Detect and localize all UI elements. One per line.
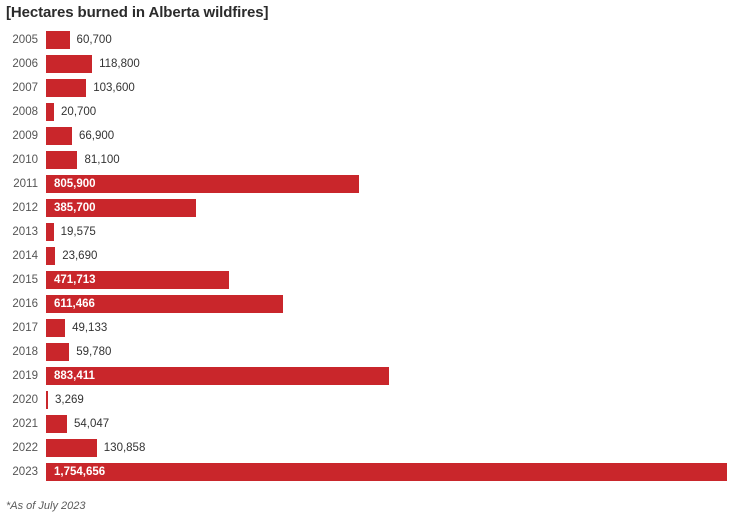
bar-track: 1,754,656 bbox=[46, 460, 734, 484]
chart-row: 20231,754,656 bbox=[0, 460, 734, 484]
bar-value-label-inside: 805,900 bbox=[54, 175, 96, 193]
year-axis-label: 2014 bbox=[0, 244, 38, 268]
year-axis-label: 2017 bbox=[0, 316, 38, 340]
chart-row: 200820,700 bbox=[0, 100, 734, 124]
bar-track: 60,700 bbox=[46, 28, 734, 52]
bar-track: 103,600 bbox=[46, 76, 734, 100]
bar-value-label-inside: 385,700 bbox=[54, 199, 96, 217]
chart-row: 2015471,713 bbox=[0, 268, 734, 292]
bar-track: 81,100 bbox=[46, 148, 734, 172]
chart-row: 2006118,800 bbox=[0, 52, 734, 76]
chart-row: 201749,133 bbox=[0, 316, 734, 340]
bar[interactable] bbox=[46, 79, 86, 97]
bar-track: 59,780 bbox=[46, 340, 734, 364]
year-axis-label: 2010 bbox=[0, 148, 38, 172]
bar-track: 805,900 bbox=[46, 172, 734, 196]
year-axis-label: 2022 bbox=[0, 436, 38, 460]
bar-track: 385,700 bbox=[46, 196, 734, 220]
bar-value-label-inside: 883,411 bbox=[54, 367, 95, 385]
bar-value-label-inside: 471,713 bbox=[54, 271, 96, 289]
year-axis-label: 2023 bbox=[0, 460, 38, 484]
bar-value-label-outside: 59,780 bbox=[76, 340, 111, 364]
chart-title: [Hectares burned in Alberta wildfires] bbox=[6, 4, 268, 21]
chart-row: 202154,047 bbox=[0, 412, 734, 436]
chart-row: 2012385,700 bbox=[0, 196, 734, 220]
chart-row: 201859,780 bbox=[0, 340, 734, 364]
bar[interactable] bbox=[46, 247, 55, 265]
bar-value-label-outside: 118,800 bbox=[99, 52, 140, 76]
bar-value-label-outside: 49,133 bbox=[72, 316, 107, 340]
year-axis-label: 2006 bbox=[0, 52, 38, 76]
bar[interactable] bbox=[46, 367, 389, 385]
year-axis-label: 2012 bbox=[0, 196, 38, 220]
bar-value-label-outside: 60,700 bbox=[77, 28, 112, 52]
bar[interactable] bbox=[46, 151, 77, 169]
bar-value-label-outside: 20,700 bbox=[61, 100, 96, 124]
bar-value-label-outside: 54,047 bbox=[74, 412, 109, 436]
chart-row: 201081,100 bbox=[0, 148, 734, 172]
year-axis-label: 2007 bbox=[0, 76, 38, 100]
year-axis-label: 2008 bbox=[0, 100, 38, 124]
chart-row: 2016611,466 bbox=[0, 292, 734, 316]
bar-track: 118,800 bbox=[46, 52, 734, 76]
bar-value-label-outside: 103,600 bbox=[93, 76, 135, 100]
bar-track: 54,047 bbox=[46, 412, 734, 436]
bar-value-label-outside: 23,690 bbox=[62, 244, 97, 268]
bar-track: 23,690 bbox=[46, 244, 734, 268]
bar-value-label-outside: 3,269 bbox=[55, 388, 84, 412]
year-axis-label: 2009 bbox=[0, 124, 38, 148]
year-axis-label: 2016 bbox=[0, 292, 38, 316]
chart-row: 2019883,411 bbox=[0, 364, 734, 388]
bar-value-label-outside: 130,858 bbox=[104, 436, 146, 460]
chart-row: 2007103,600 bbox=[0, 76, 734, 100]
bar[interactable] bbox=[46, 391, 48, 409]
year-axis-label: 2015 bbox=[0, 268, 38, 292]
bar[interactable] bbox=[46, 31, 70, 49]
bar-track: 883,411 bbox=[46, 364, 734, 388]
bar-track: 471,713 bbox=[46, 268, 734, 292]
year-axis-label: 2011 bbox=[0, 172, 38, 196]
bar-value-label-inside: 1,754,656 bbox=[54, 463, 105, 481]
year-axis-label: 2020 bbox=[0, 388, 38, 412]
chart-row: 200560,700 bbox=[0, 28, 734, 52]
bar-value-label-outside: 19,575 bbox=[61, 220, 96, 244]
bar-value-label-outside: 66,900 bbox=[79, 124, 114, 148]
bar-track: 49,133 bbox=[46, 316, 734, 340]
year-axis-label: 2013 bbox=[0, 220, 38, 244]
bar[interactable] bbox=[46, 439, 97, 457]
chart-row: 20203,269 bbox=[0, 388, 734, 412]
bar[interactable] bbox=[46, 55, 92, 73]
chart-row: 201319,575 bbox=[0, 220, 734, 244]
bar-track: 611,466 bbox=[46, 292, 734, 316]
bar-track: 20,700 bbox=[46, 100, 734, 124]
bar-chart-plot-area: 200560,7002006118,8002007103,600200820,7… bbox=[0, 28, 734, 484]
bar-track: 19,575 bbox=[46, 220, 734, 244]
bar[interactable] bbox=[46, 463, 727, 481]
bar[interactable] bbox=[46, 103, 54, 121]
bar[interactable] bbox=[46, 223, 54, 241]
year-axis-label: 2018 bbox=[0, 340, 38, 364]
bar[interactable] bbox=[46, 127, 72, 145]
bar-value-label-inside: 611,466 bbox=[54, 295, 95, 313]
bar[interactable] bbox=[46, 319, 65, 337]
chart-container: [Hectares burned in Alberta wildfires] 2… bbox=[0, 0, 734, 524]
chart-row: 201423,690 bbox=[0, 244, 734, 268]
chart-row: 2022130,858 bbox=[0, 436, 734, 460]
chart-footnote: *As of July 2023 bbox=[6, 500, 86, 512]
bar-track: 130,858 bbox=[46, 436, 734, 460]
bar-track: 3,269 bbox=[46, 388, 734, 412]
bar-track: 66,900 bbox=[46, 124, 734, 148]
bar[interactable] bbox=[46, 415, 67, 433]
year-axis-label: 2019 bbox=[0, 364, 38, 388]
year-axis-label: 2021 bbox=[0, 412, 38, 436]
year-axis-label: 2005 bbox=[0, 28, 38, 52]
bar[interactable] bbox=[46, 343, 69, 361]
chart-row: 2011805,900 bbox=[0, 172, 734, 196]
bar-value-label-outside: 81,100 bbox=[84, 148, 119, 172]
chart-row: 200966,900 bbox=[0, 124, 734, 148]
